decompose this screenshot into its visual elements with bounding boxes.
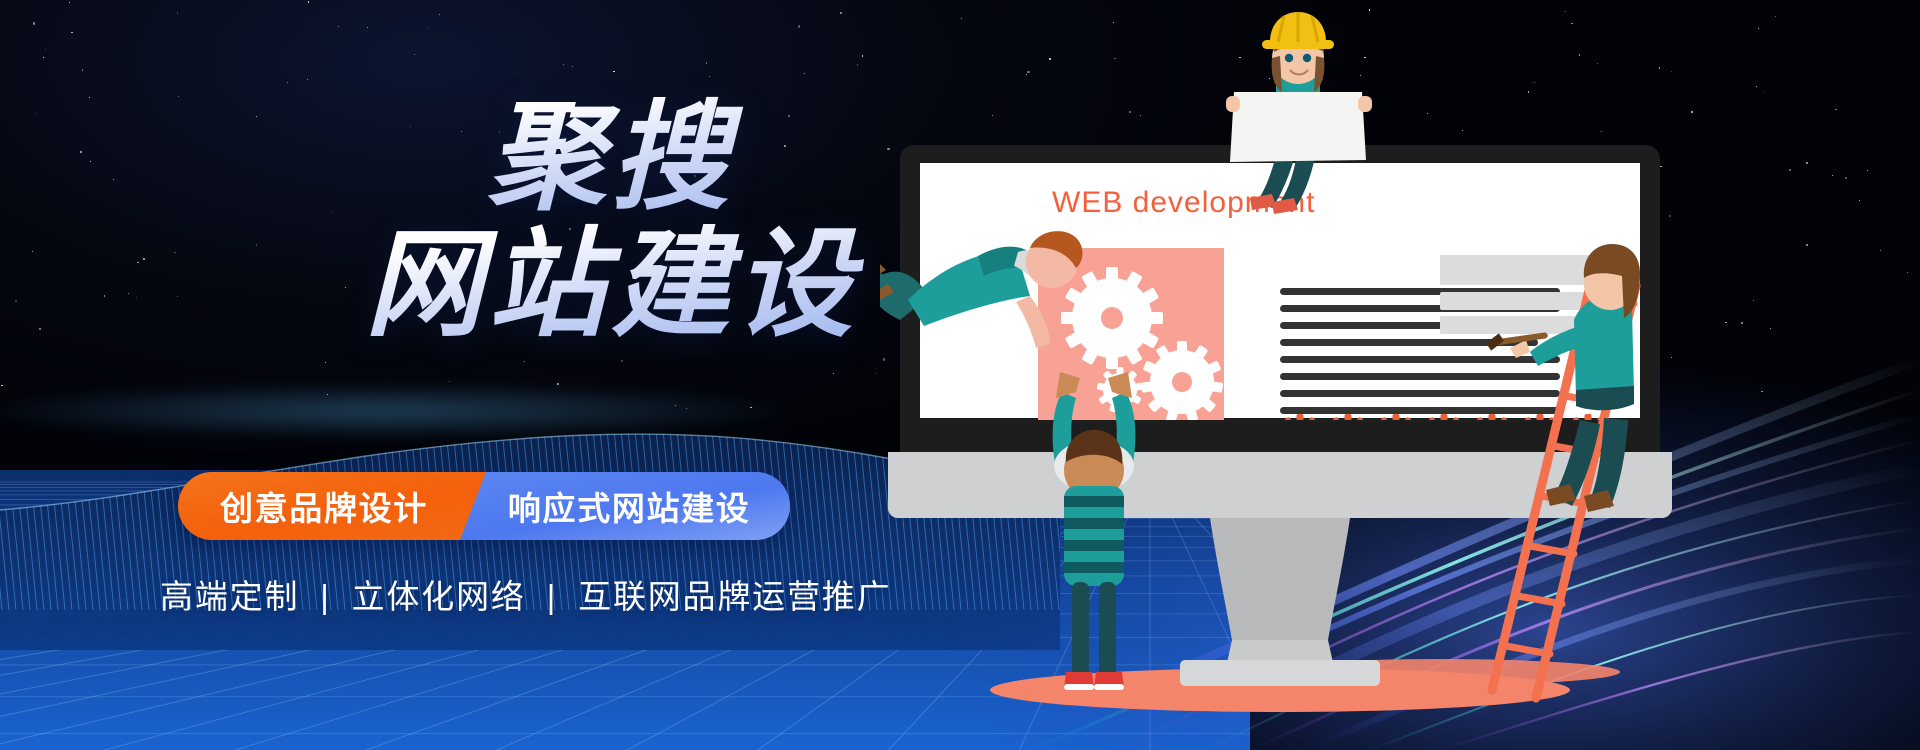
web-development-illustration: WEB development [880, 0, 1920, 750]
tagline-part-1: 高端定制 [160, 578, 299, 615]
tagline-part-3: 互联网品牌运营推广 [578, 578, 891, 615]
pill-responsive-website[interactable]: 响应式网站建设 [460, 472, 791, 540]
hero-banner: 聚搜 网站建设 创意品牌设计 响应式网站建设 高端定制 | 立体化网络 | 互联… [0, 0, 1920, 750]
screen-grey-blocks [1440, 255, 1590, 334]
blueprint-sheet [1230, 92, 1366, 162]
pill-creative-brand-design[interactable]: 创意品牌设计 [178, 472, 486, 540]
headline-block: 聚搜 网站建设 [0, 96, 880, 348]
tagline-separator-1: | [310, 578, 340, 616]
feature-pill-group: 创意品牌设计 响应式网站建设 [178, 472, 790, 540]
tagline: 高端定制 | 立体化网络 | 互联网品牌运营推广 [160, 570, 891, 618]
headline-line-1: 聚搜 [0, 96, 880, 221]
tagline-part-2: 立体化网络 [352, 578, 526, 615]
headline-line-2: 网站建设 [0, 223, 880, 348]
tagline-separator-2: | [537, 578, 567, 616]
